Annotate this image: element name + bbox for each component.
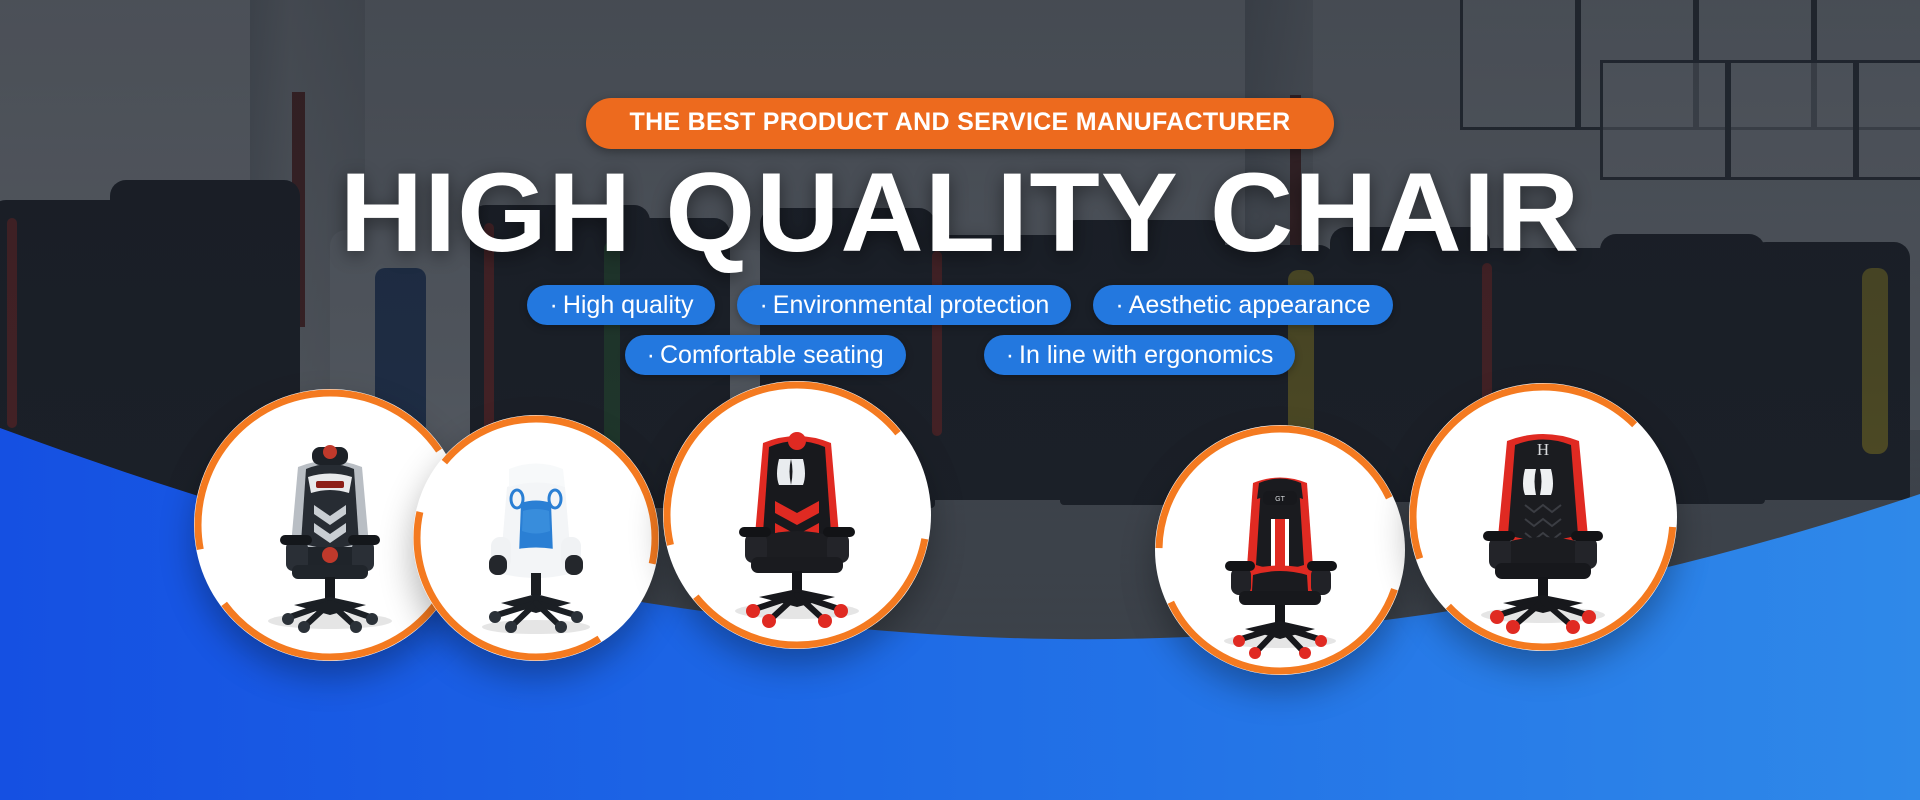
chair-image-red-white-black-racing-chair: GT <box>1155 425 1405 675</box>
product-circle-2[interactable] <box>413 415 659 661</box>
chair-image-black-red-h-logo-chair: H H <box>1409 383 1677 651</box>
product-circle-4[interactable]: GT <box>1155 425 1405 675</box>
product-circle-disc: GT <box>1155 425 1405 675</box>
chair-image-black-red-racing-chair <box>663 381 931 649</box>
chair-image-white-blue-office-chair <box>413 415 659 661</box>
product-circle-3[interactable] <box>663 381 931 649</box>
svg-text:GT: GT <box>1275 496 1285 503</box>
hero-banner: THE BEST PRODUCT AND SERVICE MANUFACTURE… <box>0 0 1920 800</box>
product-circle-disc <box>413 415 659 661</box>
svg-text:H: H <box>1537 440 1549 459</box>
product-circle-disc: H H <box>1409 383 1677 651</box>
product-circle-gallery: GT <box>0 0 1920 800</box>
product-circle-5[interactable]: H H <box>1409 383 1677 651</box>
product-circle-disc <box>663 381 931 649</box>
